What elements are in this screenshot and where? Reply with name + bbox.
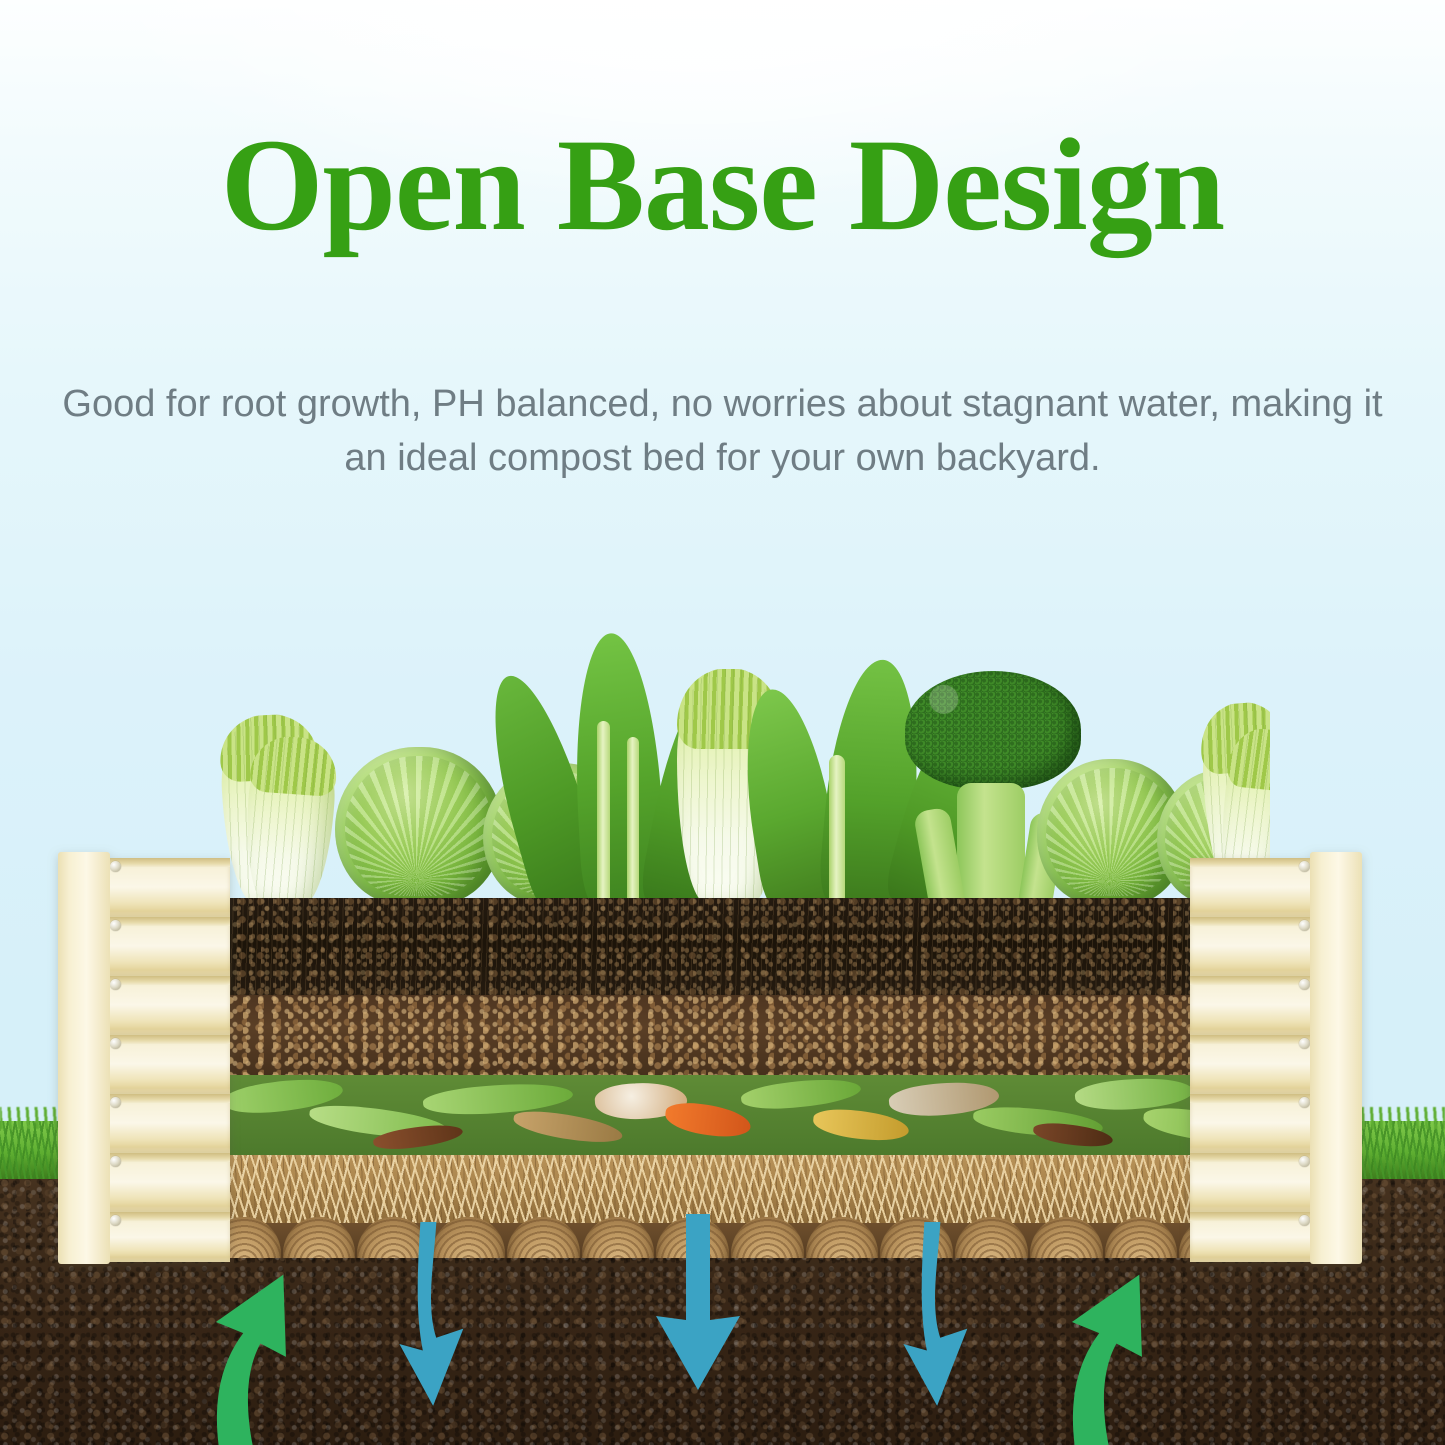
page-subtitle: Good for root growth, PH balanced, no wo… [58, 378, 1388, 486]
screw-icon [1299, 1097, 1310, 1108]
plant-broccoli [905, 671, 1081, 789]
layer-kitchen-scraps [213, 1075, 1247, 1155]
compost-bed-cross-section [213, 898, 1247, 1258]
screw-icon [1299, 920, 1310, 931]
screw-icon [1299, 979, 1310, 990]
screw-icon [1299, 1156, 1310, 1167]
drainage-down-arrow-icon [398, 1222, 528, 1422]
panel-slats [1190, 858, 1316, 1262]
layer-mid-soil [213, 995, 1247, 1075]
panel-slats [104, 858, 230, 1262]
log [806, 1217, 879, 1258]
drainage-down-arrow-icon [902, 1222, 1032, 1422]
screw-icon [110, 1097, 121, 1108]
plant-stem [597, 721, 610, 905]
planter-panel-left [58, 858, 230, 1262]
screw-icon [110, 861, 121, 872]
screw-icon [110, 1156, 121, 1167]
airflow-up-arrow-icon [200, 1238, 350, 1445]
panel-corner-post [58, 852, 110, 1264]
log [582, 1217, 655, 1258]
screw-icon [110, 920, 121, 931]
screw-icon [110, 1215, 121, 1226]
vegetable-plants-group [205, 600, 1270, 905]
screw-icon [1299, 861, 1310, 872]
plant-stem [829, 755, 845, 905]
airflow-up-arrow-icon [1056, 1238, 1206, 1445]
screw-icon [110, 1038, 121, 1049]
screw-icon [1299, 1038, 1310, 1049]
plant-broccoli-stalk [957, 783, 1025, 905]
drainage-down-arrow-icon [648, 1212, 778, 1412]
plant-green-cabbage [335, 747, 503, 905]
layer-topsoil [213, 898, 1247, 995]
screw-icon [110, 979, 121, 990]
planter-panel-right [1190, 858, 1362, 1262]
screw-icon [1299, 1215, 1310, 1226]
panel-corner-post [1310, 852, 1362, 1264]
page-title: Open Base Design [0, 118, 1445, 253]
marketing-image: Open Base Design Good for root growth, P… [0, 0, 1445, 1445]
plant-napa-cabbage [241, 734, 339, 905]
plant-stem [627, 737, 639, 905]
